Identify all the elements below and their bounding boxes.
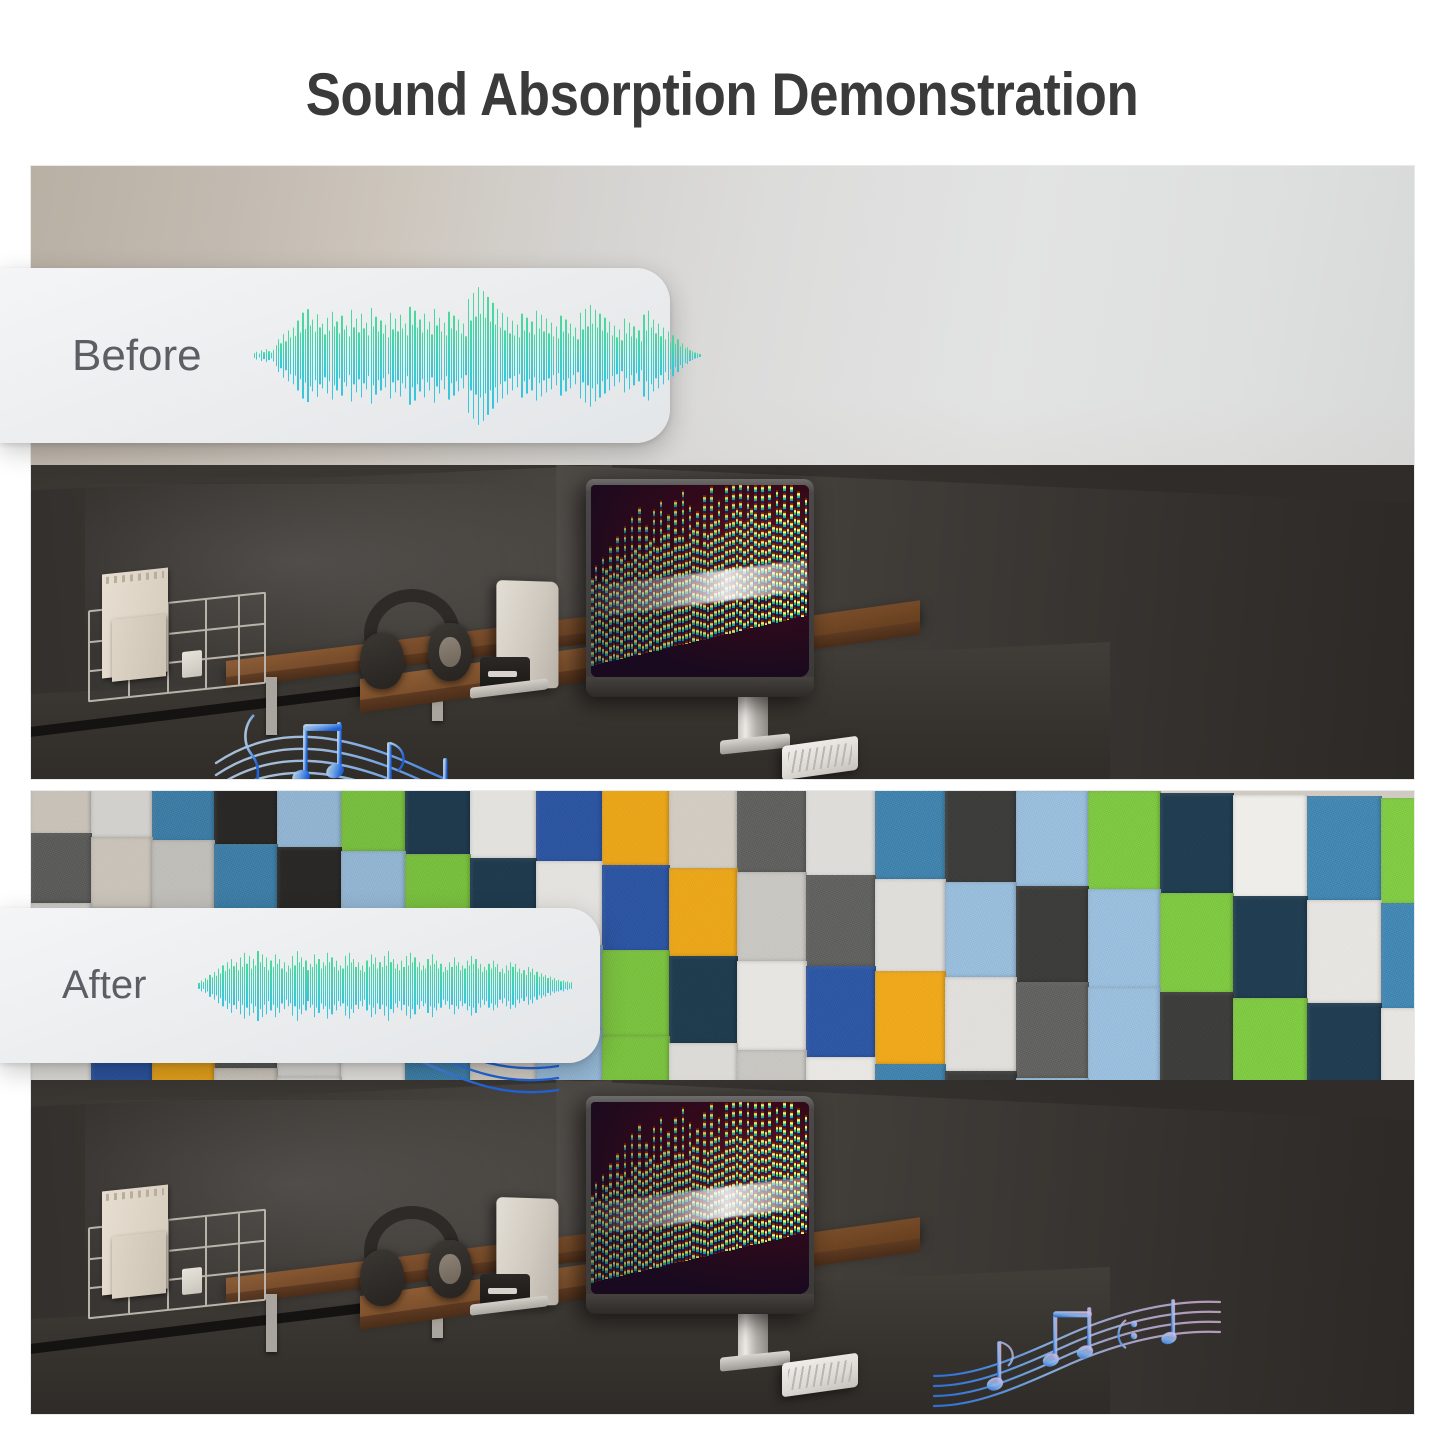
acoustic-panel [152, 840, 215, 915]
waveform-bar [670, 342, 671, 370]
waveform-bar [468, 298, 469, 412]
equalizer-bar [739, 485, 742, 631]
waveform-bar [297, 320, 298, 391]
waveform-bar [685, 348, 686, 364]
acoustic-panel [1307, 900, 1382, 1006]
acoustic-panel [737, 872, 807, 963]
waveform-bar [336, 321, 337, 390]
equalizer-bar [754, 485, 757, 627]
waveform-bar [655, 333, 656, 378]
equalizer-bar [703, 1112, 706, 1256]
acoustic-panel [602, 865, 670, 953]
waveform-bar [301, 957, 302, 1014]
waveform-bar [531, 321, 532, 390]
waveform-bar [546, 318, 547, 393]
waveform-bar [382, 966, 383, 1004]
waveform-bar [480, 963, 481, 1008]
waveform-bar [417, 966, 418, 1004]
waveform-bar [563, 980, 564, 991]
waveform-bar [475, 958, 476, 1012]
waveform-bar [344, 329, 345, 382]
paper-sheet [112, 614, 166, 682]
waveform-bar [305, 960, 306, 1011]
waveform-bar [227, 962, 228, 1010]
equalizer-bar [710, 1103, 713, 1255]
waveform-bar [271, 352, 272, 359]
equalizer-bar [703, 495, 706, 639]
waveform-bar [571, 982, 572, 990]
waveform-bar [286, 971, 287, 1000]
waveform-bar [323, 962, 324, 1010]
waveform-bar [508, 970, 509, 1002]
waveform-bar [325, 965, 326, 1006]
waveform-bar [609, 321, 610, 390]
waveform-bar [336, 960, 337, 1011]
acoustic-panel [737, 961, 807, 1052]
poster-root: Sound Absorption Demonstration [0, 0, 1445, 1445]
waveform-bar [424, 313, 425, 398]
waveform-bar [266, 957, 267, 1014]
equalizer-bar [718, 1117, 721, 1253]
waveform-bar [473, 292, 474, 418]
acoustic-panel [1233, 795, 1308, 899]
waveform-bar [648, 310, 649, 401]
monitor-chin [586, 1294, 814, 1314]
acoustic-panel [536, 790, 603, 864]
waveform-bar [417, 327, 418, 384]
waveform-bar [277, 963, 278, 1008]
equalizer-bar [660, 1117, 663, 1267]
acoustic-panel [1160, 893, 1234, 995]
equalizer-bar [725, 1103, 728, 1251]
waveform-bar [236, 962, 237, 1010]
waveform-bar [558, 979, 559, 992]
waveform-bar [478, 287, 479, 425]
waveform-bar [575, 327, 576, 384]
waveform-bar [539, 328, 540, 383]
waveform-bar [646, 330, 647, 381]
waveform-bar [490, 321, 491, 390]
equalizer-bar [761, 1102, 764, 1243]
waveform-bar [260, 962, 261, 1010]
curved-monitor [586, 479, 814, 697]
waveform-bar [273, 349, 274, 362]
waveform-bar [502, 312, 503, 399]
waveform-bar [526, 974, 527, 996]
equalizer-bar [674, 500, 677, 646]
waveform-bar [510, 962, 511, 1010]
waveform-bar [445, 966, 446, 1004]
waveform-bar [238, 970, 239, 1002]
waveform-bar [553, 336, 554, 375]
waveform-bar [408, 965, 409, 1006]
wire-strut [205, 1217, 207, 1305]
waveform-bar [305, 328, 306, 382]
waveform-bar [517, 971, 518, 1000]
waveform-bar [478, 968, 479, 1003]
waveform-bar [677, 339, 678, 373]
waveform-bar [560, 981, 561, 991]
waveform-bar [231, 958, 232, 1012]
waveform-bar [467, 960, 468, 1011]
waveform-bar [339, 333, 340, 378]
waveform-bar [317, 314, 318, 398]
waveform-bar [203, 982, 204, 990]
waveform-bar [626, 333, 627, 378]
waveform-bar [658, 323, 659, 388]
acoustic-panel [1307, 796, 1382, 902]
waveform-bar [597, 327, 598, 384]
acoustic-panel [875, 971, 946, 1066]
waveform-bar [251, 968, 252, 1003]
waveform-bar [293, 327, 294, 384]
waveform-bar [541, 973, 542, 998]
waveform-bar [312, 319, 313, 392]
waveform-bar [619, 329, 620, 382]
waveform-bar [201, 980, 202, 991]
waveform-bar [388, 337, 389, 374]
waveform-bar [275, 954, 276, 1018]
waveform-bar [233, 966, 234, 1006]
earcup-pad [439, 637, 460, 667]
waveform-bar [399, 970, 400, 1002]
curved-monitor [586, 1096, 814, 1314]
waveform-bar [270, 960, 271, 1011]
waveform-bar [327, 317, 328, 394]
dock-indicator [488, 671, 517, 677]
waveform-bar [244, 952, 245, 1019]
waveform-bar [218, 968, 219, 1003]
waveform-bar [278, 339, 279, 373]
notepad-spiral [106, 1188, 164, 1201]
waveform-bar [541, 314, 542, 397]
waveform-bar [441, 331, 442, 380]
waveform-bar [209, 974, 210, 996]
waveform-bar [692, 351, 693, 361]
waveform-bar [216, 975, 217, 996]
waveform-bar [560, 315, 561, 396]
waveform-bar [425, 968, 426, 1003]
waveform-bar [530, 971, 531, 1000]
equalizer-bar [682, 1107, 685, 1261]
waveform-bar [448, 311, 449, 400]
waveform-bar [443, 971, 444, 1000]
equalizer-bar [797, 491, 800, 617]
waveform-bar [631, 336, 632, 375]
acoustic-panel [341, 790, 406, 853]
waveform-bar [414, 310, 415, 401]
waveform-bar [345, 955, 346, 1015]
waveform-bar [486, 970, 487, 1002]
waveform-bar [430, 965, 431, 1006]
waveform-bar [358, 962, 359, 1010]
equalizer-bar [754, 1102, 757, 1244]
headphone-earcup-right [428, 623, 472, 681]
waveform-bar [285, 341, 286, 371]
waveform-bar [327, 952, 328, 1019]
waveform-bar [643, 314, 644, 397]
equalizer-bar [747, 1102, 750, 1247]
waveform-bar [604, 317, 605, 394]
waveform-bar [427, 958, 428, 1012]
waveform-bar [590, 304, 591, 407]
waveform-bar [318, 958, 319, 1012]
waveform-bar [602, 330, 603, 381]
equalizer-bar [718, 500, 721, 636]
waveform-bar [587, 326, 588, 385]
waveform-bar [551, 322, 552, 389]
waveform-bar [412, 324, 413, 387]
acoustic-panel [1381, 798, 1415, 906]
acoustic-panel [1088, 791, 1161, 891]
waveform-bar [264, 966, 265, 1004]
waveform-bar [401, 960, 402, 1011]
waveform-bar [338, 970, 339, 1002]
waveform-bar [407, 335, 408, 376]
acoustic-panel [669, 956, 738, 1046]
waveform-bar [502, 968, 503, 1003]
waveform-bar [689, 350, 690, 362]
shelf-leg [266, 1294, 277, 1352]
waveform-bar [547, 978, 548, 994]
acoustic-panel [1160, 793, 1234, 895]
waveform-bar [379, 962, 380, 1010]
waveform-bar [314, 954, 315, 1018]
acoustic-panel [945, 790, 1017, 885]
acoustic-panel [152, 790, 215, 843]
waveform-bar [373, 326, 374, 385]
waveform-bar [434, 963, 435, 1008]
waveform-bar [616, 337, 617, 374]
waveform-bar [668, 331, 669, 380]
waveform-bar [268, 351, 269, 361]
waveform-bar [500, 327, 501, 384]
waveform-bar [283, 333, 284, 377]
waveform-bar [495, 324, 496, 387]
waveform-bar [641, 341, 642, 371]
shelf-leg [266, 677, 277, 735]
waveform-bar [568, 333, 569, 378]
waveform-bar [334, 966, 335, 1004]
waveform-bar [297, 951, 298, 1021]
waveform-bar [395, 318, 396, 393]
acoustic-panel [470, 790, 537, 860]
waveform-bar [294, 965, 295, 1006]
waveform-bar [495, 966, 496, 1004]
waveform-bar [569, 982, 570, 988]
waveform-bar [573, 336, 574, 375]
waveform-bar [375, 957, 376, 1014]
waveform-bar [310, 325, 311, 386]
waveform-bar [556, 326, 557, 385]
device-vents [788, 1360, 852, 1391]
waveform-bar [316, 963, 317, 1008]
waveform-bar [262, 954, 263, 1018]
after-waveform [198, 950, 573, 1022]
acoustic-panel [1016, 982, 1089, 1081]
waveform-bar [512, 320, 513, 391]
waveform-bar [536, 310, 537, 401]
page-title-wrapper: Sound Absorption Demonstration [0, 60, 1445, 129]
waveform-bar [507, 316, 508, 395]
waveform-bar [384, 955, 385, 1015]
waveform-bar [436, 325, 437, 386]
waveform-bar [329, 330, 330, 381]
waveform-bar [519, 337, 520, 374]
waveform-bar [331, 957, 332, 1014]
equalizer-bar [776, 1107, 779, 1239]
acoustic-panel [945, 882, 1017, 979]
waveform-bar [499, 971, 500, 1000]
waveform-bar [397, 331, 398, 380]
waveform-bar [521, 973, 522, 998]
acoustic-panel [277, 790, 342, 850]
page-title: Sound Absorption Demonstration [306, 60, 1139, 129]
waveform-bar [449, 962, 450, 1010]
waveform-bar [440, 963, 441, 1008]
waveform-bar [565, 982, 566, 990]
waveform-bar [346, 325, 347, 386]
waveform-bar [456, 965, 457, 1006]
waveform-bar [663, 327, 664, 384]
waveform-bar [268, 970, 269, 1002]
acoustic-panel [602, 790, 670, 867]
waveform-bar [427, 329, 428, 382]
waveform-bar [347, 965, 348, 1006]
waveform-bar [312, 966, 313, 1004]
equalizer-bar [768, 485, 771, 625]
waveform-bar [429, 321, 430, 390]
equalizer-bar [660, 500, 663, 650]
waveform-bar [651, 327, 652, 384]
headphone-earcup-left [360, 1250, 404, 1306]
waveform-bar [438, 968, 439, 1003]
equalizer-bar [783, 1102, 786, 1238]
waveform-bar [351, 962, 352, 1010]
waveform-bar [451, 328, 452, 383]
waveform-bar [214, 971, 215, 1000]
monitor-screen [591, 485, 809, 678]
after-waveform-card: After [0, 908, 600, 1063]
notepad-spiral [106, 571, 164, 584]
before-label: Before [72, 331, 202, 381]
waveform-bar [369, 966, 370, 1004]
equalizer-visualization [591, 485, 809, 678]
waveform-bar [464, 968, 465, 1003]
waveform-bar [523, 970, 524, 1002]
waveform-bar [463, 323, 464, 388]
waveform-bar [302, 312, 303, 399]
waveform-bar [378, 331, 379, 380]
waveform-bar [582, 329, 583, 382]
waveform-bar [273, 966, 274, 1004]
waveform-bar [229, 968, 230, 1003]
waveform-bar [567, 981, 568, 991]
waveform-bar [699, 354, 700, 358]
waveform-bar [246, 963, 247, 1008]
waveform-bar [638, 330, 639, 381]
waveform-bar [342, 968, 343, 1003]
scene-after [30, 790, 1415, 1415]
equalizer-bar [768, 1102, 771, 1242]
waveform-bar [482, 971, 483, 1000]
waveform-bar [439, 317, 440, 394]
waveform-bar [565, 319, 566, 392]
wire-strut [205, 600, 207, 688]
waveform-bar [697, 353, 698, 359]
waveform-bar [512, 966, 513, 1004]
waveform-bar [207, 979, 208, 992]
earcup-pad [439, 1254, 460, 1284]
waveform-bar [392, 329, 393, 382]
acoustic-panel [214, 790, 278, 846]
waveform-bar [353, 958, 354, 1012]
waveform-bar [198, 982, 199, 988]
waveform-bar [363, 328, 364, 383]
waveform-bar [432, 954, 433, 1018]
waveform-bar [580, 312, 581, 399]
waveform-bar [473, 963, 474, 1008]
acoustic-panel [1016, 886, 1089, 985]
eraser [182, 1267, 202, 1295]
waveform-bar [529, 332, 530, 379]
waveform-bar [319, 327, 320, 384]
waveform-bar [388, 951, 389, 1021]
waveform-bar [276, 345, 277, 367]
waveform-bar [322, 323, 323, 388]
waveform-bar [458, 319, 459, 392]
waveform-bar [456, 330, 457, 381]
equalizer-bar [761, 485, 764, 626]
equalizer-bar [674, 1117, 677, 1263]
wire-strut [238, 1213, 240, 1301]
waveform-bar [307, 309, 308, 403]
waveform-bar [680, 346, 681, 366]
waveform-bar [307, 970, 308, 1002]
acoustic-panel [875, 790, 946, 881]
waveform-bar [288, 965, 289, 1006]
waveform-bar [334, 326, 335, 385]
equalizer-bar [805, 498, 808, 616]
waveform-bar [614, 325, 615, 386]
waveform-bar [545, 974, 546, 996]
scene-divider [0, 780, 1445, 790]
equalizer-bar [682, 490, 685, 644]
waveform-bar [458, 962, 459, 1010]
acoustic-panel [30, 790, 92, 836]
waveform-bar [471, 955, 472, 1015]
waveform-bar [675, 344, 676, 368]
waveform-bar [290, 968, 291, 1003]
waveform-bar [447, 970, 448, 1002]
waveform-bar [543, 331, 544, 380]
acoustic-panel [1233, 896, 1308, 1000]
waveform-bar [592, 323, 593, 388]
waveform-bar [633, 326, 634, 385]
waveform-bar [340, 965, 341, 1006]
waveform-bar [515, 963, 516, 1008]
waveform-bar [524, 330, 525, 381]
waveform-bar [517, 324, 518, 387]
waveform-bar [504, 330, 505, 381]
waveform-bar [451, 966, 452, 1004]
waveform-bar [509, 333, 510, 378]
waveform-bar [694, 352, 695, 359]
waveform-bar [461, 333, 462, 378]
waveform-bar [355, 966, 356, 1004]
acoustic-panel [669, 868, 738, 958]
waveform-bar [310, 963, 311, 1008]
